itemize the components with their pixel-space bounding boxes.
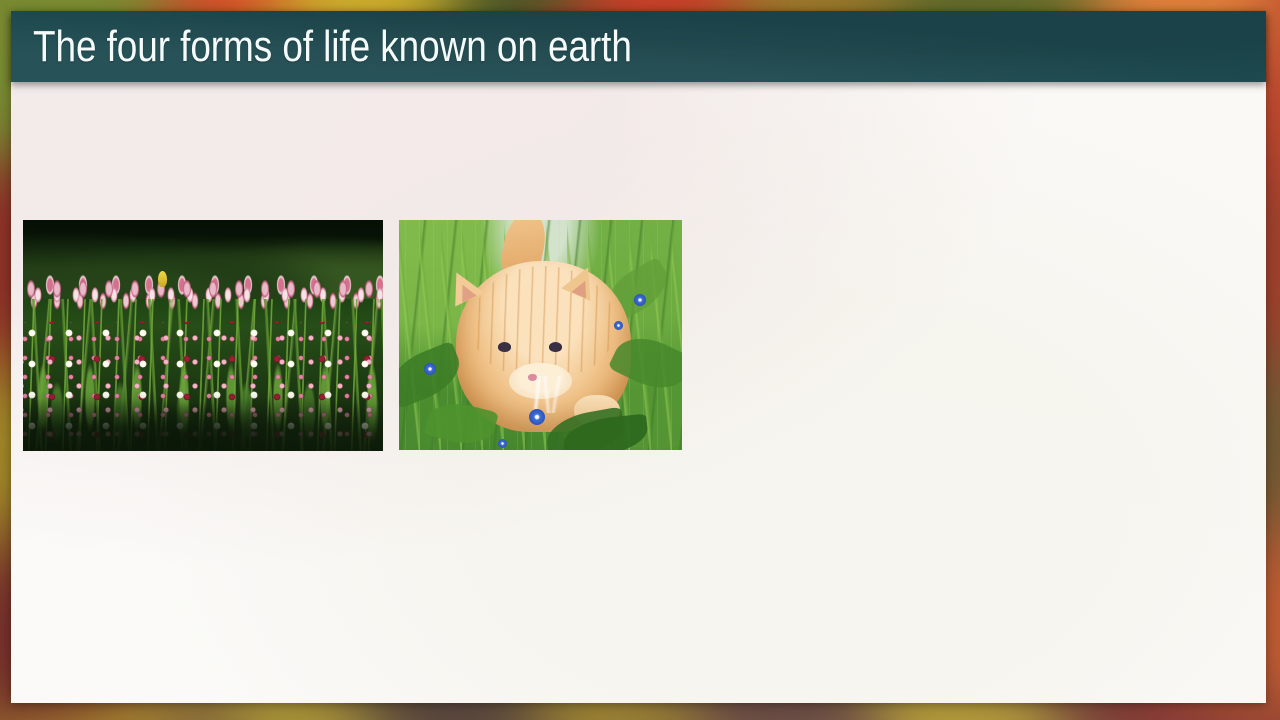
presentation-slide: The four forms of life known on earth bbox=[0, 0, 1280, 720]
slide-title-banner: The four forms of life known on earth bbox=[11, 11, 1266, 82]
flower-field-yellow-tulip bbox=[158, 271, 167, 287]
blue-flower-icon bbox=[424, 363, 436, 375]
picture-flower-field[interactable] bbox=[23, 220, 383, 451]
slide-content-area bbox=[0, 0, 1280, 720]
kitten-eye-left bbox=[498, 342, 511, 352]
page-title: The four forms of life known on earth bbox=[33, 25, 632, 69]
flower-field-foreground-shadow bbox=[23, 391, 383, 451]
blue-flower-icon bbox=[634, 294, 646, 306]
blue-flower-icon bbox=[529, 409, 545, 425]
kitten-eye-right bbox=[549, 342, 562, 352]
picture-kitten[interactable] bbox=[399, 220, 682, 450]
blue-flower-icon bbox=[498, 439, 507, 448]
